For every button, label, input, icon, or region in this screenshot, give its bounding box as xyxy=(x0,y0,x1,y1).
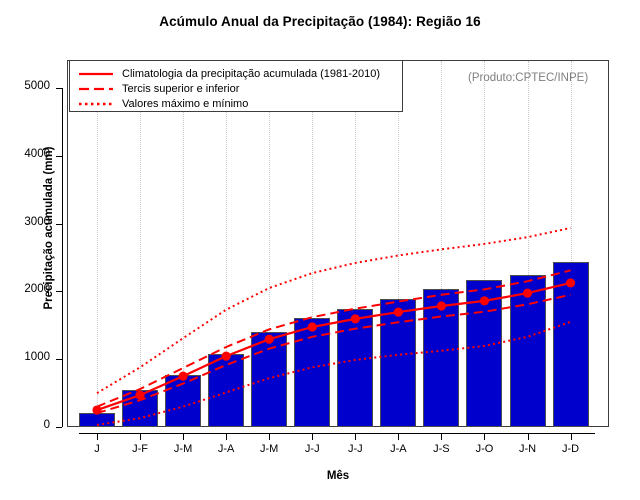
legend-item-label: Valores máximo e mínimo xyxy=(122,98,248,110)
legend-item: Climatologia da precipitação acumulada (… xyxy=(70,66,402,81)
legend-line-key-icon xyxy=(78,83,114,95)
bar xyxy=(337,309,373,427)
x-tick-mark xyxy=(97,433,98,440)
bar xyxy=(251,332,287,427)
x-tick-mark xyxy=(484,433,485,440)
gridline xyxy=(140,61,142,427)
bar xyxy=(165,375,201,427)
x-axis-title: Mês xyxy=(67,470,609,482)
y-tick-mark xyxy=(56,156,62,157)
x-tick-label: J-A xyxy=(218,443,235,455)
gridline xyxy=(97,61,99,427)
x-tick-mark xyxy=(226,433,227,440)
y-tick-mark xyxy=(56,427,62,428)
x-tick-label: J-J xyxy=(305,443,320,455)
x-tick-mark xyxy=(183,433,184,440)
legend-item-label: Tercis superior e inferior xyxy=(122,83,239,95)
y-tick-mark xyxy=(56,291,62,292)
y-tick-mark xyxy=(56,359,62,360)
chart-canvas: Acúmulo Anual da Precipitação (1984): Re… xyxy=(0,0,640,500)
legend-line-key-icon xyxy=(78,68,114,80)
x-tick-label: J-S xyxy=(433,443,450,455)
bar xyxy=(553,262,589,427)
x-tick-mark xyxy=(355,433,356,440)
x-tick-mark xyxy=(441,433,442,440)
x-tick-mark xyxy=(140,433,141,440)
bar xyxy=(208,354,244,427)
x-tick-label: J-A xyxy=(390,443,407,455)
bar xyxy=(122,390,158,427)
x-tick-label: J-M xyxy=(174,443,192,455)
x-tick-mark xyxy=(528,433,529,440)
x-tick-mark xyxy=(312,433,313,440)
bar xyxy=(423,289,459,427)
legend-line-key-icon xyxy=(78,98,114,110)
chart-legend: Climatologia da precipitação acumulada (… xyxy=(69,60,403,112)
x-tick-label: J-N xyxy=(519,443,536,455)
y-tick-mark xyxy=(56,88,62,89)
x-tick-label: J xyxy=(94,443,100,455)
legend-item: Tercis superior e inferior xyxy=(70,81,402,96)
bar xyxy=(79,413,115,427)
y-tick-mark xyxy=(56,224,62,225)
chart-title: Acúmulo Anual da Precipitação (1984): Re… xyxy=(0,14,640,29)
bar xyxy=(294,318,330,427)
gridline xyxy=(183,61,185,427)
legend-item: Valores máximo e mínimo xyxy=(70,96,402,111)
y-axis-line xyxy=(62,88,63,427)
bar xyxy=(510,275,546,427)
bar xyxy=(466,280,502,427)
x-tick-mark xyxy=(398,433,399,440)
x-tick-label: J-M xyxy=(260,443,278,455)
x-tick-label: J-J xyxy=(348,443,363,455)
x-tick-mark xyxy=(269,433,270,440)
x-axis-line xyxy=(79,433,595,434)
x-tick-label: J-D xyxy=(562,443,579,455)
y-axis-title: Precipitação acumulada (mm) xyxy=(43,78,55,378)
x-tick-label: J-O xyxy=(476,443,494,455)
bar xyxy=(380,299,416,427)
x-tick-label: J-F xyxy=(132,443,148,455)
y-tick-label: 0 xyxy=(0,419,50,431)
legend-item-label: Climatologia da precipitação acumulada (… xyxy=(122,68,380,80)
x-tick-mark xyxy=(571,433,572,440)
producer-annotation: (Produto:CPTEC/INPE) xyxy=(468,72,588,84)
